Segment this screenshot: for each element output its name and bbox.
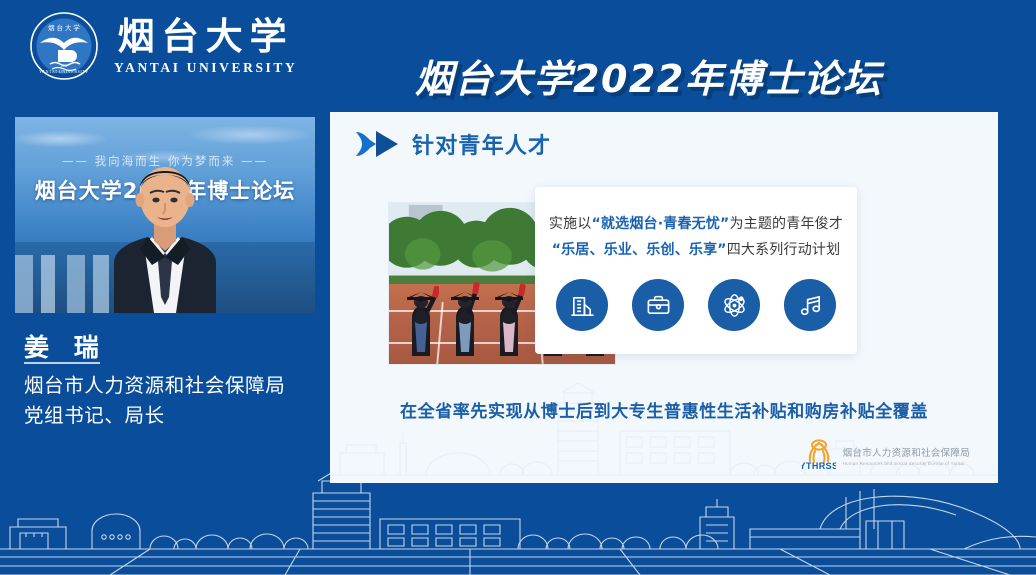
slide-header-title: 针对青年人才 bbox=[412, 128, 551, 160]
bureau-logo: YTHRSS 烟台市人力资源和社会保障局 Human Resources and… bbox=[802, 439, 970, 471]
policy-text-card: 实施以“就选烟台·青春无忧”为主题的青年俊才 “乐居、乐业、乐创、乐享”四大系列… bbox=[535, 187, 857, 354]
svg-text:YANTAI UNIVERSITY: YANTAI UNIVERSITY bbox=[39, 69, 89, 74]
ythrss-emblem-icon: YTHRSS bbox=[802, 439, 836, 471]
policy-line2-quote: “乐居、乐业、乐创、乐享” bbox=[552, 242, 727, 258]
atom-icon bbox=[721, 292, 748, 319]
policy-icon-music[interactable] bbox=[784, 279, 836, 331]
bureau-abbr: YTHRSS bbox=[802, 461, 836, 471]
graduate-figure bbox=[447, 282, 483, 356]
brand-lockup: 烟 台 大 学 YANTAI UNIVERSITY 1984 烟台大学 YANT… bbox=[28, 10, 297, 82]
policy-icon-row bbox=[535, 279, 857, 331]
policy-line2-post: 四大系列行动计划 bbox=[727, 242, 841, 258]
slide-header: 针对青年人才 bbox=[352, 128, 551, 160]
brand-name-en: YANTAI UNIVERSITY bbox=[114, 60, 297, 76]
speaker-role: 党组书记、局长 bbox=[24, 399, 165, 428]
svg-text:烟 台 大 学: 烟 台 大 学 bbox=[48, 23, 80, 32]
bureau-name-en: Human Resources and Social Security Bure… bbox=[843, 461, 970, 466]
yantai-university-seal-icon: 烟 台 大 学 YANTAI UNIVERSITY 1984 bbox=[28, 10, 100, 82]
slide-panel[interactable]: 针对青年人才 bbox=[330, 112, 998, 483]
policy-line1-post: 为主题的青年俊才 bbox=[729, 216, 843, 232]
graduate-figure bbox=[491, 282, 527, 356]
speaker-video[interactable]: —— 我向海而生 你为梦而来 —— 烟台大学2022年博士论坛 2022 bbox=[15, 117, 315, 313]
speaker-name-underline bbox=[24, 362, 100, 364]
double-chevron-play-icon bbox=[352, 128, 400, 160]
page-title: 烟台大学2022年博士论坛 bbox=[415, 48, 882, 103]
slide-footer-headline: 在全省率先实现从博士后到大专生普惠性生活补贴和购房补贴全覆盖 bbox=[330, 397, 998, 422]
policy-icon-building[interactable] bbox=[556, 279, 608, 331]
presentation-stage: 烟 台 大 学 YANTAI UNIVERSITY 1984 烟台大学 YANT… bbox=[0, 0, 1036, 575]
graduate-figure bbox=[403, 282, 439, 356]
speaker-name: 姜 瑞 bbox=[24, 328, 107, 364]
policy-icon-atom[interactable] bbox=[708, 279, 760, 331]
music-note-icon bbox=[797, 292, 824, 319]
building-icon bbox=[569, 292, 596, 319]
svg-text:1984: 1984 bbox=[61, 64, 68, 68]
speaker-organization: 烟台市人力资源和社会保障局 bbox=[24, 369, 285, 398]
briefcase-icon bbox=[645, 292, 672, 319]
policy-line-2: “乐居、乐业、乐创、乐享”四大系列行动计划 bbox=[535, 239, 857, 259]
brand-name-cn: 烟台大学 bbox=[118, 16, 294, 57]
policy-line1-pre: 实施以 bbox=[549, 216, 592, 232]
policy-icon-briefcase[interactable] bbox=[632, 279, 684, 331]
policy-line-1: 实施以“就选烟台·青春无忧”为主题的青年俊才 bbox=[535, 213, 857, 233]
policy-line1-quote: “就选烟台·青春无忧” bbox=[592, 216, 730, 232]
bureau-name-cn: 烟台市人力资源和社会保障局 bbox=[843, 445, 970, 459]
speaker-figure bbox=[90, 145, 240, 313]
